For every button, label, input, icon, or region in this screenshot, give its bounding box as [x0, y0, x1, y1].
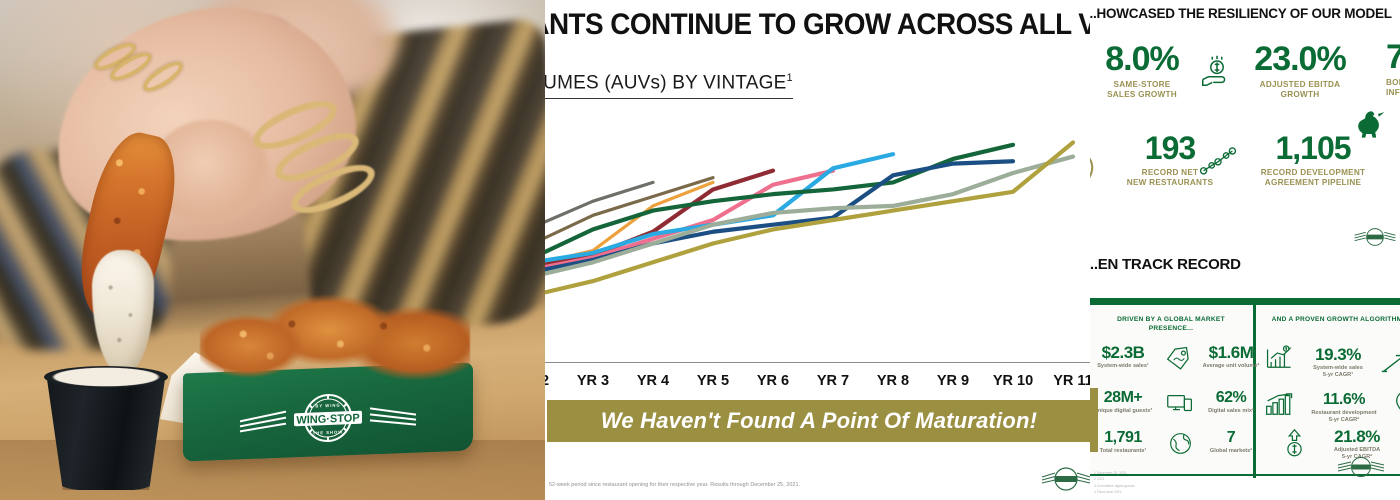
- photo-sauce-cup: [46, 372, 166, 490]
- stat-value: 23.0%: [1240, 42, 1360, 76]
- globe-icon: [1168, 431, 1193, 456]
- slide-subtitle-footnote-marker: 1: [787, 72, 793, 84]
- coin-up-icon: [1282, 428, 1307, 458]
- mini-value: 62%: [1198, 390, 1264, 406]
- mini-label: System-wide sales¹: [1090, 363, 1160, 370]
- mini-global-markets: 7 Global markets²: [1198, 430, 1264, 455]
- wingstop-logo-top: BY WING: [315, 403, 340, 409]
- mini-average-unit-volume: $1.6M Average unit volume²: [1198, 344, 1264, 370]
- slide-footnote: 52-week period since restaurant opening …: [549, 482, 969, 488]
- mini-system-wide-sales-cagr: 19.3% System-wide sales 5-yr CAGR¹: [1296, 346, 1380, 380]
- mini-restaurant-development-cagr: 11.6% Restaurant development 5-yr CAGR²: [1296, 392, 1392, 425]
- wingstop-logo-slide: [1039, 462, 1091, 496]
- mini-label: Restaurant development 5-yr CAGR²: [1296, 410, 1392, 425]
- mini-value: 28M+: [1090, 390, 1160, 406]
- x-axis-tick: YR 4: [627, 373, 679, 389]
- stat-value: 1,105: [1238, 132, 1388, 164]
- mini-value: 1,791: [1090, 430, 1160, 446]
- slide-subtitle: ...OLUMES (AUVs) BY VINTAGE1: [545, 72, 793, 99]
- photo-chicken-pieces: [200, 288, 470, 388]
- mini-value: 11.6%: [1296, 392, 1392, 408]
- resiliency-slide: ...HOWCASED THE RESILIENCY OF OUR MODEL …: [1090, 0, 1400, 500]
- mini-value: $2.3B: [1090, 344, 1160, 361]
- chart-callout-text: We Haven't Found A Point Of Maturation!: [601, 408, 1037, 434]
- trend-arrow-icon: [1380, 352, 1400, 375]
- product-photo: WING·STOP BY WING THE SHOW: [0, 0, 545, 500]
- chart-callout-banner: We Haven't Found A Point Of Maturation!: [547, 400, 1091, 442]
- x-axis-tick: YR 3: [567, 373, 619, 389]
- x-axis-tick: YR 8: [867, 373, 919, 389]
- mini-value: 21.8%: [1312, 428, 1400, 445]
- right-headline: ...HOWCASED THE RESILIENCY OF OUR MODEL: [1090, 6, 1392, 22]
- location-pin-icon: [1394, 392, 1400, 419]
- x-axis-tick: YR 7: [807, 373, 859, 389]
- bar-chart-icon: [1264, 344, 1296, 371]
- x-axis-tick: YR 11: [1047, 373, 1091, 389]
- mini-label: Global markets²: [1198, 448, 1264, 455]
- mini-value: $1.6M: [1198, 344, 1264, 361]
- chart-x-axis: YR 2YR 3YR 4YR 5YR 6YR 7YR 8YR 9YR 10YR …: [545, 362, 1091, 394]
- x-axis-tick: YR 2: [545, 373, 559, 389]
- hand-coin-icon: [1198, 52, 1236, 90]
- mini-label: Unique digital guests³: [1090, 408, 1160, 415]
- wingstop-logo-right-top: [1352, 224, 1398, 250]
- wingstop-logo-bottom: THE SHOW: [313, 429, 344, 435]
- mini-label: Digital sales mix²: [1198, 408, 1264, 415]
- auv-chart-slide: ...AURANTS CONTINUE TO GROW ACROSS ALL V…: [545, 0, 1091, 500]
- mini-value: 7: [1198, 430, 1264, 446]
- stat-label: BONE-I INFLA: [1386, 78, 1400, 98]
- price-tag-icon: [1164, 344, 1194, 371]
- stat-adjusted-ebitda-growth: 23.0% ADJUSTED EBITDA GROWTH: [1240, 42, 1360, 100]
- devices-icon: [1166, 392, 1194, 415]
- mini-value: 19.3%: [1296, 346, 1380, 363]
- stat-label: SAME-STORE SALES GROWTH: [1092, 80, 1192, 100]
- right-footnotes: 1 December 25, 2021 2 2021 3 Cumulative …: [1094, 470, 1274, 496]
- mini-system-wide-sales: $2.3B System-wide sales¹: [1090, 344, 1160, 370]
- track-right-title: AND A PROVEN GROWTH ALGORITHM: [1262, 316, 1400, 325]
- network-icon: [1198, 142, 1238, 178]
- mini-digital-sales-mix: 62% Digital sales mix²: [1198, 390, 1264, 415]
- track-left-title: DRIVEN BY A GLOBAL MARKET PRESENCE...: [1096, 316, 1246, 334]
- gold-accent-strip: [1090, 388, 1098, 452]
- bar-growth-icon: [1264, 392, 1296, 417]
- x-axis-tick: YR 6: [747, 373, 799, 389]
- slide-headline: ...AURANTS CONTINUE TO GROW ACROSS ALL V…: [545, 8, 1091, 42]
- stat-label: ADJUSTED EBITDA GROWTH: [1240, 80, 1360, 100]
- track-record-box: DRIVEN BY A GLOBAL MARKET PRESENCE... AN…: [1090, 298, 1400, 476]
- mini-label: Total restaurants¹: [1090, 448, 1160, 455]
- photo-sauce-cup-rim: [44, 366, 168, 388]
- stat-record-development-pipeline: 1,105 RECORD DEVELOPMENT AGREEMENT PIPEL…: [1238, 132, 1388, 188]
- x-axis-tick: YR 9: [927, 373, 979, 389]
- wingstop-logo-right-bottom: [1336, 452, 1386, 482]
- track-record-topbar: [1090, 300, 1400, 305]
- x-axis-tick: YR 5: [687, 373, 739, 389]
- stat-same-store-sales: 8.0% SAME-STORE SALES GROWTH: [1092, 42, 1192, 100]
- chart-svg: [545, 118, 1091, 363]
- mini-label: Average unit volume²: [1198, 363, 1264, 370]
- auv-line-chart: [545, 118, 1091, 363]
- stat-label: RECORD DEVELOPMENT AGREEMENT PIPELINE: [1238, 168, 1388, 188]
- mini-total-restaurants: 1,791 Total restaurants¹: [1090, 430, 1160, 455]
- stat-bone-in-inflation: 72 BONE-I INFLA: [1386, 40, 1400, 98]
- right-headline-2: ...EN TRACK RECORD: [1090, 256, 1241, 273]
- stat-value: 8.0%: [1092, 42, 1192, 76]
- wingstop-logo-text: WING·STOP: [296, 412, 359, 426]
- x-axis-tick: YR 10: [987, 373, 1039, 389]
- mini-unique-digital-guests: 28M+ Unique digital guests³: [1090, 390, 1160, 415]
- wingstop-logo-photo: WING·STOP BY WING THE SHOW: [228, 388, 428, 448]
- chart-line-vintage-gray: [545, 182, 653, 227]
- slide-collage: WING·STOP BY WING THE SHOW ...AURANTS CO…: [0, 0, 1400, 500]
- slide-subtitle-text: ...OLUMES (AUVs) BY VINTAGE: [545, 72, 787, 93]
- mini-label: System-wide sales 5-yr CAGR¹: [1296, 365, 1380, 380]
- stat-value: 72: [1386, 40, 1400, 74]
